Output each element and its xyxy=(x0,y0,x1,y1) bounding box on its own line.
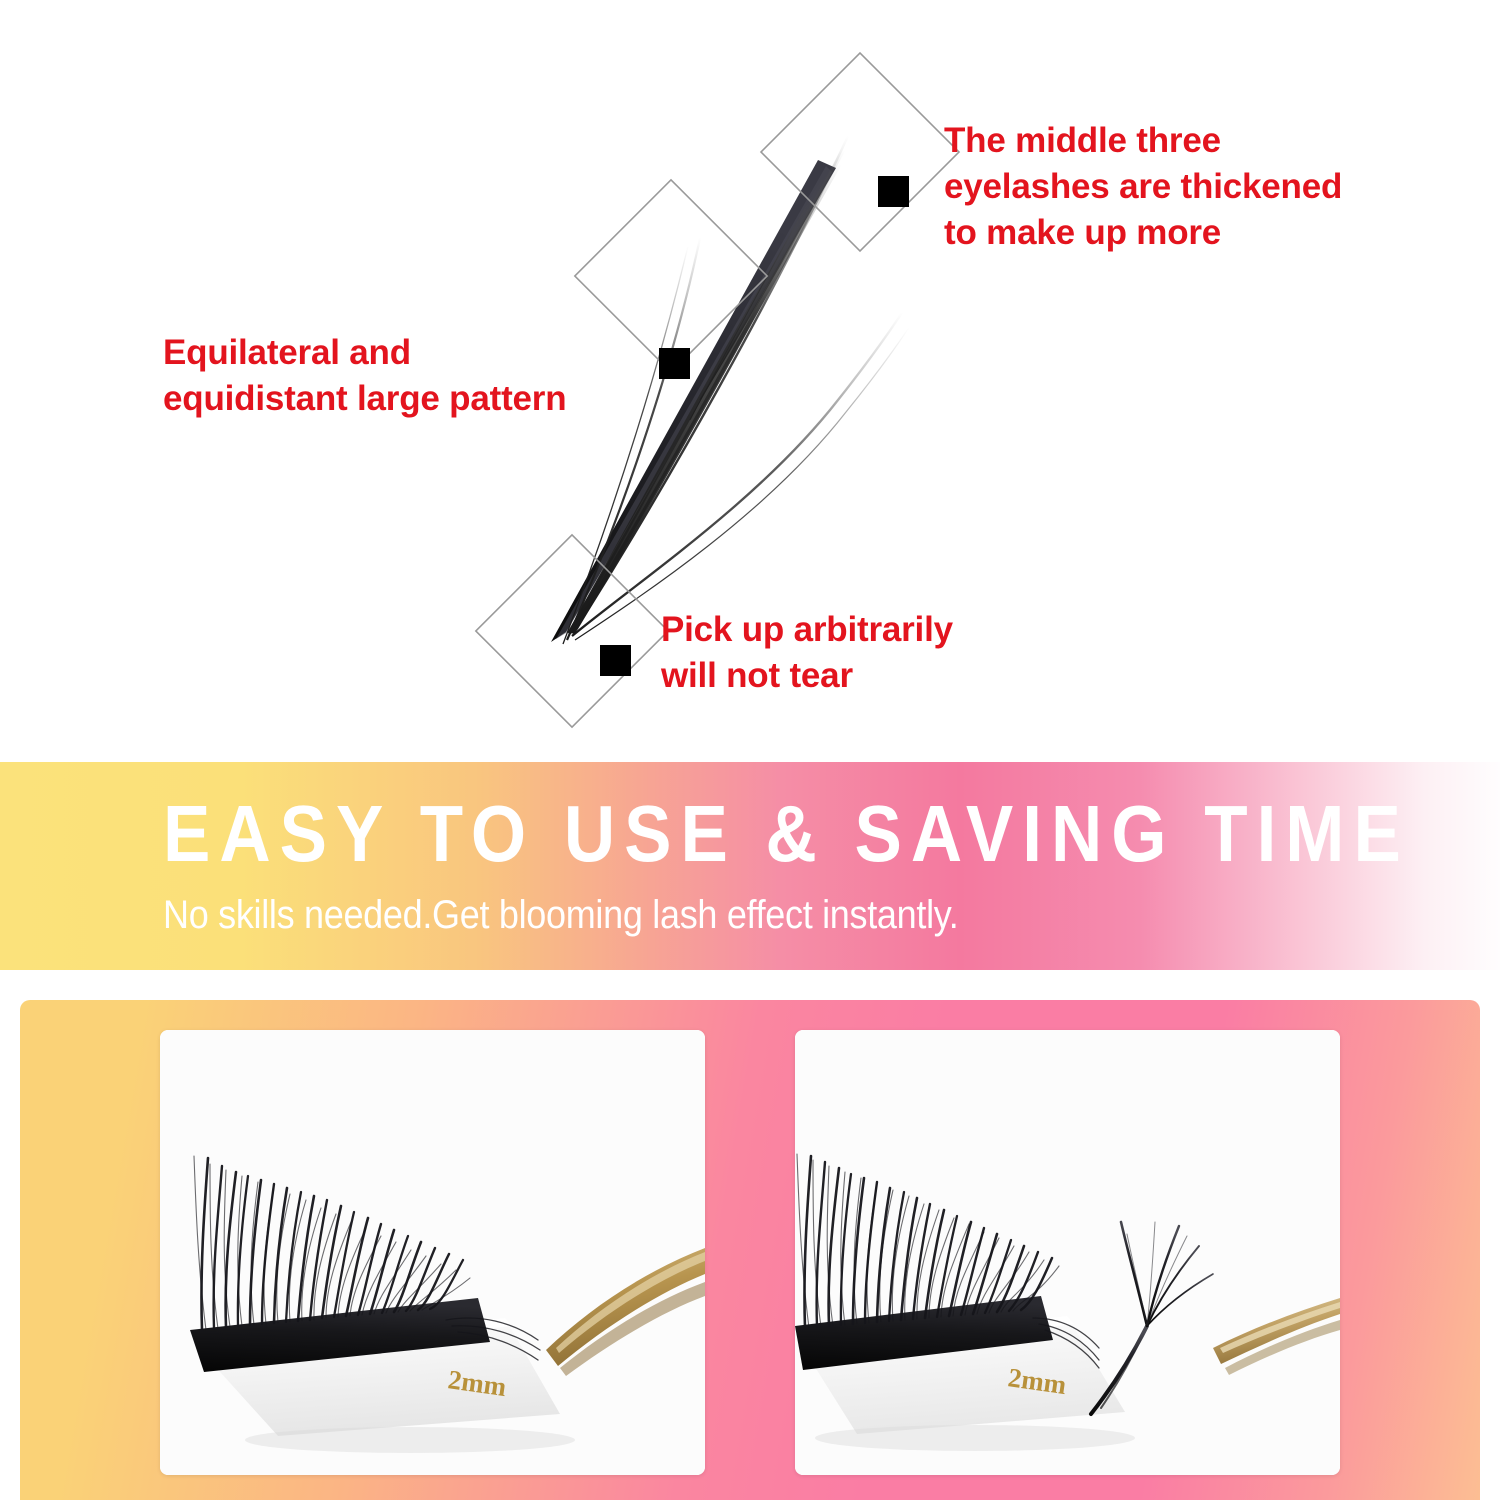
banner-subtitle: No skills needed.Get blooming lash effec… xyxy=(163,895,959,935)
callout-pick-up-arbitrarily: Pick up arbitrarily will not tear xyxy=(661,607,953,699)
product-photo-panel: 2mm xyxy=(20,1000,1480,1500)
callout-middle-three-thickened: The middle three eyelashes are thickened… xyxy=(944,118,1342,257)
lash-fan-lifted-by-tweezers-photo: 2mm xyxy=(795,1030,1340,1475)
callout-equilateral-equidistant: Equilateral and equidistant large patter… xyxy=(163,330,566,422)
diagram-section: The middle three eyelashes are thickened… xyxy=(0,0,1500,762)
diamond-marker-middle xyxy=(575,180,767,379)
headline-banner: EASY TO USE & SAVING TIME No skills need… xyxy=(0,762,1500,970)
lash-tray-with-tweezers-photo: 2mm xyxy=(160,1030,705,1475)
banner-title: EASY TO USE & SAVING TIME xyxy=(163,795,1410,875)
